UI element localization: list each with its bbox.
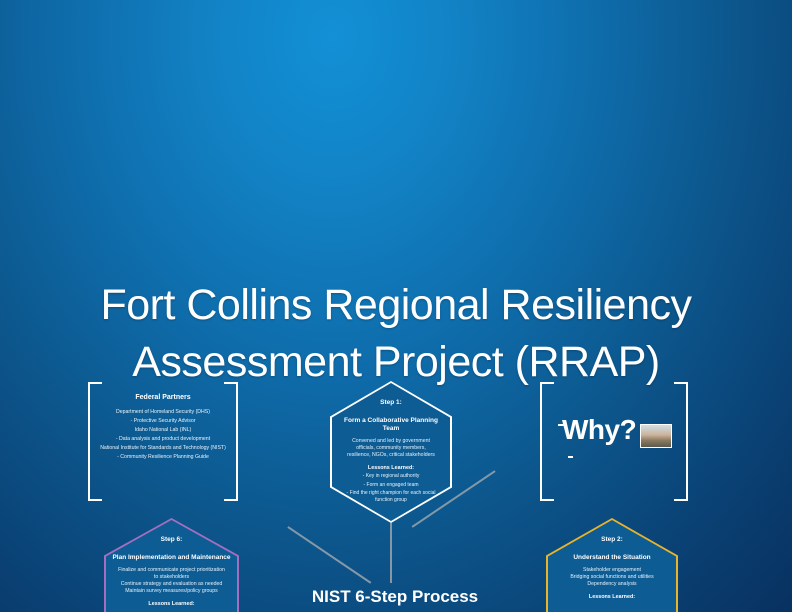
lesson-item: - Key in regional authority xyxy=(338,473,444,480)
lesson-item: - Form an engaged team xyxy=(338,482,444,489)
process-step-6: Step 6: Plan Implementation and Maintena… xyxy=(104,518,239,612)
lessons-heading: Lessons Learned: xyxy=(554,594,670,600)
process-step-2-content: Step 2: Understand the Situation Stakeho… xyxy=(548,520,676,612)
step-title: Plan Implementation and Maintenance xyxy=(112,554,231,562)
process-center-label: NIST 6-Step Process xyxy=(300,586,490,607)
lessons-heading: Lessons Learned: xyxy=(112,601,231,607)
list-item: - Protective Security Advisor xyxy=(94,417,232,426)
lesson-item: - Find the right champion for each socia… xyxy=(338,490,444,503)
page-title-line-1: Fort Collins Regional Resiliency xyxy=(0,277,792,334)
process-step-6-content: Step 6: Plan Implementation and Maintena… xyxy=(106,520,237,612)
list-item: Idaho National Lab (INL) xyxy=(94,426,232,435)
process-step-2: Step 2: Understand the Situation Stakeho… xyxy=(546,518,678,612)
list-item: - Data analysis and product development xyxy=(94,435,232,444)
process-step-1: Step 1: Form a Collaborative Planning Te… xyxy=(330,381,452,523)
list-item: - Community Resilience Planning Guide xyxy=(94,453,232,462)
step-title: Understand the Situation xyxy=(554,554,670,562)
federal-partners-callout: Federal Partners Department of Homeland … xyxy=(88,382,238,497)
step-subtitle: Convened and led by government officials… xyxy=(338,438,444,459)
step-number: Step 6: xyxy=(112,536,231,544)
presentation-slide: Fort Collins Regional Resiliency Assessm… xyxy=(0,0,792,612)
process-diagram: Federal Partners Department of Homeland … xyxy=(0,378,792,612)
list-item: Department of Homeland Security (DHS) xyxy=(94,408,232,417)
landscape-photo xyxy=(640,424,672,448)
connector-line-left xyxy=(288,526,372,583)
step-subtitle: Finalize and communicate project priorit… xyxy=(112,567,231,595)
dash-mark-icon xyxy=(568,456,573,458)
lessons-heading: Lessons Learned: xyxy=(338,465,444,471)
bracket-left xyxy=(540,382,554,501)
process-step-1-content: Step 1: Form a Collaborative Planning Te… xyxy=(332,383,450,521)
federal-partners-heading: Federal Partners xyxy=(88,394,238,401)
bracket-right xyxy=(674,382,688,501)
step-title: Form a Collaborative Planning Team xyxy=(338,417,444,433)
federal-partners-list: Department of Homeland Security (DHS) - … xyxy=(94,408,232,462)
why-label: Why? xyxy=(562,414,636,446)
step-number: Step 2: xyxy=(554,536,670,544)
step-subtitle: Stakeholder engagement Bridging social f… xyxy=(554,567,670,588)
page-title: Fort Collins Regional Resiliency Assessm… xyxy=(0,277,792,391)
process-center-label-text: NIST 6-Step Process xyxy=(312,587,478,606)
connector-line-vertical xyxy=(390,523,392,583)
list-item: National Institute for Standards and Tec… xyxy=(94,444,232,453)
why-callout: Why? xyxy=(540,382,688,497)
step-number: Step 1: xyxy=(338,399,444,407)
